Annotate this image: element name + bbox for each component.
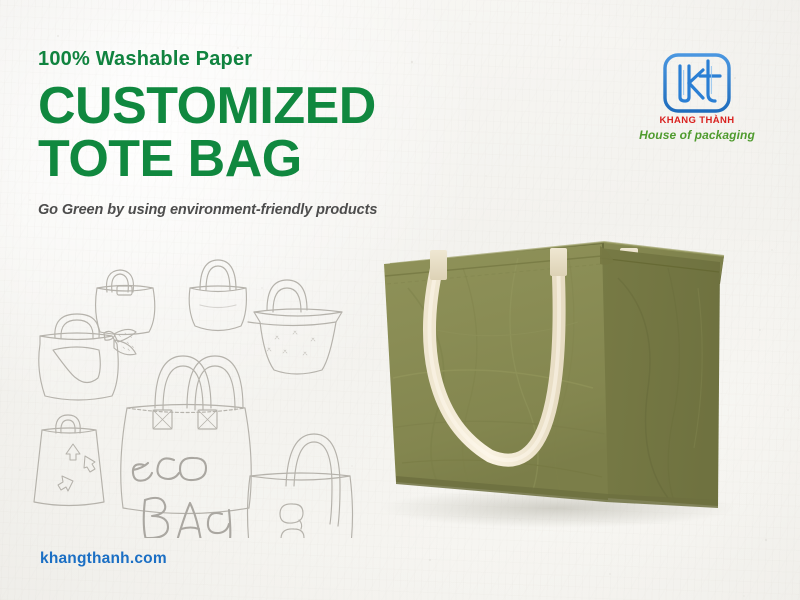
sketch-eco-bag-caption — [133, 458, 230, 538]
sketch-beach-basket-bag — [248, 280, 342, 374]
title-line-1: CUSTOMIZED — [38, 77, 376, 135]
bag-sketch-collage — [22, 228, 372, 538]
sketch-eco-tote-center — [121, 356, 252, 514]
subheadline-text: Go Green by using environment-friendly p… — [38, 202, 468, 218]
sketch-tote-with-sunglasses — [248, 434, 353, 538]
sketch-handbag-with-scarf — [39, 314, 136, 400]
kt-monogram-icon — [658, 52, 736, 114]
sketch-handbag-small-top-left — [96, 270, 155, 335]
title-line-2: TOTE BAG — [38, 133, 468, 186]
headline-block: 100% Washable Paper CUSTOMIZED TOTE BAG … — [38, 48, 468, 218]
brand-logo: KHANG THÀNH House of packaging — [622, 52, 772, 142]
product-photo-tote-bag — [368, 218, 788, 538]
page-title: CUSTOMIZED TOTE BAG — [38, 80, 468, 186]
banner-root: 100% Washable Paper CUSTOMIZED TOTE BAG … — [0, 0, 800, 600]
eyebrow-text: 100% Washable Paper — [38, 48, 468, 70]
logo-tagline: House of packaging — [622, 128, 772, 142]
sketch-bucket-bag-top-right — [189, 260, 246, 331]
sketch-shopping-bag-recycle — [34, 415, 104, 506]
bag-front-handle-tab-left — [430, 250, 447, 280]
logo-company-name: KHANG THÀNH — [622, 115, 772, 126]
bag-front-handle-tab-right — [550, 248, 567, 276]
website-url[interactable]: khangthanh.com — [40, 550, 167, 568]
